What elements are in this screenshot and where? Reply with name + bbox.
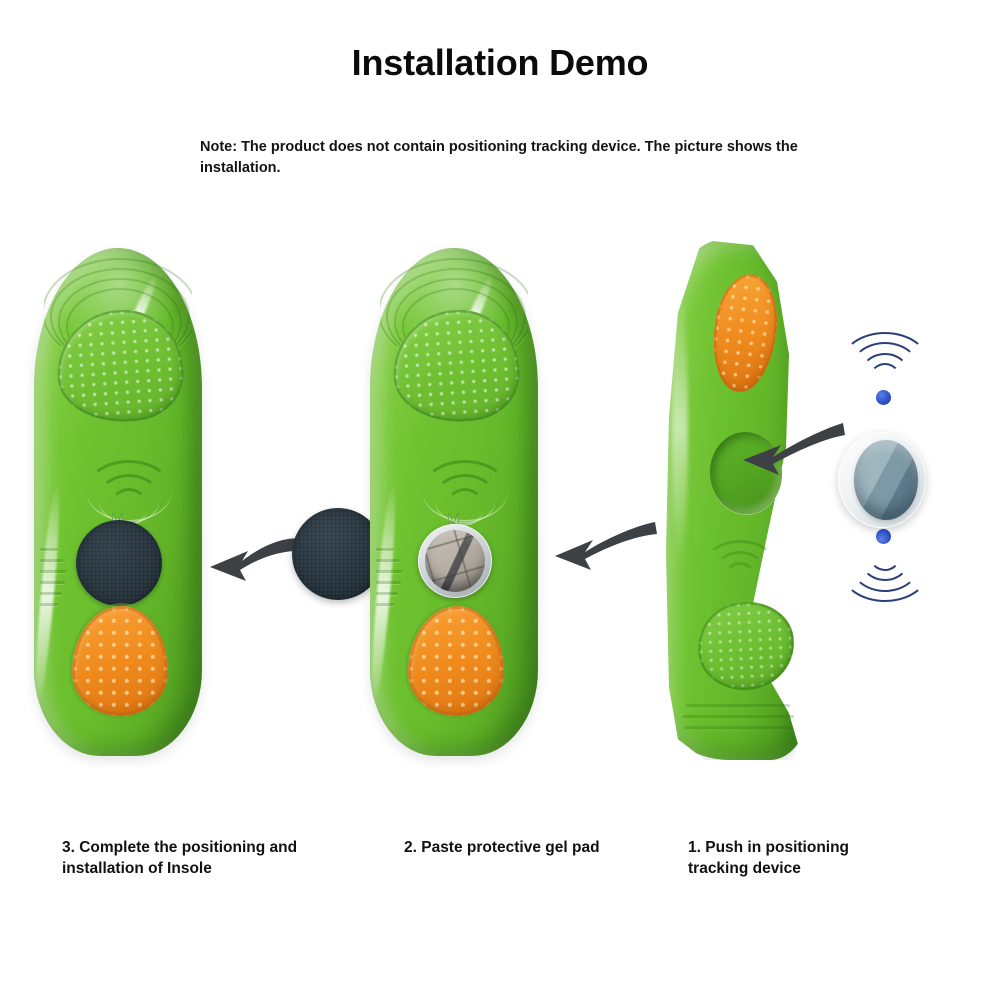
insole-step-2: M bbox=[370, 248, 538, 756]
arrow-tracker-to-insole1 bbox=[735, 415, 850, 485]
signal-dot-top bbox=[876, 390, 891, 405]
insole-step-3: M bbox=[34, 248, 202, 756]
insole-step-1 bbox=[660, 240, 810, 760]
note-text: Note: The product does not contain posit… bbox=[200, 137, 800, 179]
installed-tracking-device bbox=[418, 524, 492, 598]
applied-gel-pad bbox=[76, 520, 162, 606]
arch-wave-lines bbox=[86, 460, 166, 512]
base-ridge-lines bbox=[682, 704, 800, 748]
arch-side-ridges bbox=[376, 548, 412, 626]
arch-wave-lines bbox=[704, 540, 770, 582]
signal-waves-bottom-icon bbox=[838, 536, 930, 602]
arch-wave-lines bbox=[422, 460, 502, 512]
arrow-insole2-to-gelpad bbox=[545, 512, 660, 582]
signal-dot-bottom bbox=[876, 529, 891, 544]
tracker-metal-face bbox=[425, 530, 485, 592]
installation-demo-page: Installation Demo Note: The product does… bbox=[0, 0, 1000, 1000]
caption-step-2: 2. Paste protective gel pad bbox=[404, 838, 664, 859]
tracker-grid-pattern bbox=[425, 530, 485, 592]
tracker-disc-face bbox=[854, 440, 918, 520]
caption-step-1: 1. Push in positioning tracking device bbox=[688, 838, 898, 880]
figure-stage: M bbox=[0, 230, 1000, 790]
caption-step-3: 3. Complete the positioning and installa… bbox=[62, 838, 362, 880]
arch-side-ridges bbox=[40, 548, 76, 626]
insole-side-highlight bbox=[672, 292, 688, 562]
positioning-tracking-device bbox=[838, 340, 930, 640]
page-title: Installation Demo bbox=[0, 42, 1000, 84]
signal-waves-top-icon bbox=[838, 332, 930, 398]
